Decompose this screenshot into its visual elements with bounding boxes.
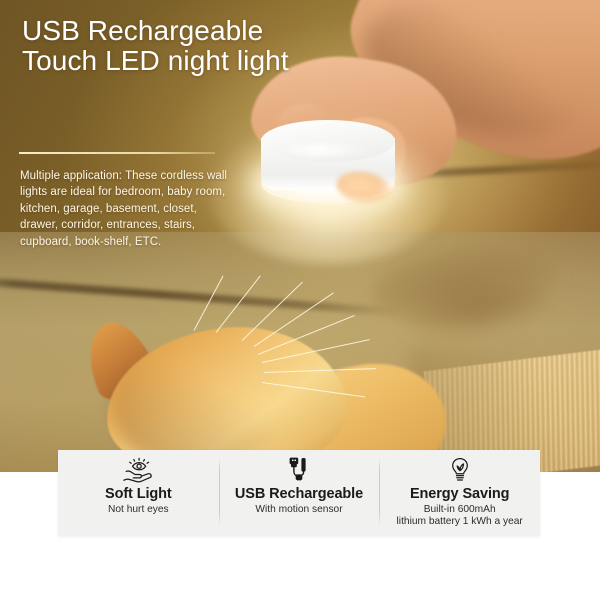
feature-subtitle: Built-in 600mAh lithium battery 1 kWh a … bbox=[397, 504, 523, 529]
feature-title: Energy Saving bbox=[410, 486, 509, 503]
product-marketing-image: USB Rechargeable Touch LED night light M… bbox=[0, 0, 600, 600]
page-title: USB Rechargeable Touch LED night light bbox=[22, 16, 322, 76]
usb-cable-icon bbox=[284, 457, 314, 483]
feature-subtitle: With motion sensor bbox=[255, 504, 342, 516]
description-text: Multiple application: These cordless wal… bbox=[20, 168, 232, 250]
feature-title: USB Rechargeable bbox=[235, 486, 363, 503]
feature-bar: Soft Light Not hurt eyes bbox=[58, 450, 540, 536]
feature-soft-light: Soft Light Not hurt eyes bbox=[58, 450, 219, 536]
feature-energy-saving: Energy Saving Built-in 600mAh lithium ba… bbox=[379, 450, 540, 536]
title-divider-rule bbox=[19, 152, 215, 154]
product-photo: USB Rechargeable Touch LED night light M… bbox=[0, 0, 600, 472]
cat bbox=[66, 300, 426, 472]
bulb-leaf-icon bbox=[448, 457, 472, 483]
eye-on-hand-icon bbox=[118, 457, 158, 483]
feature-usb-rechargeable: USB Rechargeable With motion sensor bbox=[219, 450, 380, 536]
feature-title: Soft Light bbox=[105, 486, 172, 503]
feature-subtitle-line1: Built-in 600mAh bbox=[424, 504, 496, 515]
lamp-highlight bbox=[277, 144, 373, 156]
feature-subtitle-line2: lithium battery 1 kWh a year bbox=[397, 516, 523, 527]
feature-subtitle: Not hurt eyes bbox=[108, 504, 169, 516]
